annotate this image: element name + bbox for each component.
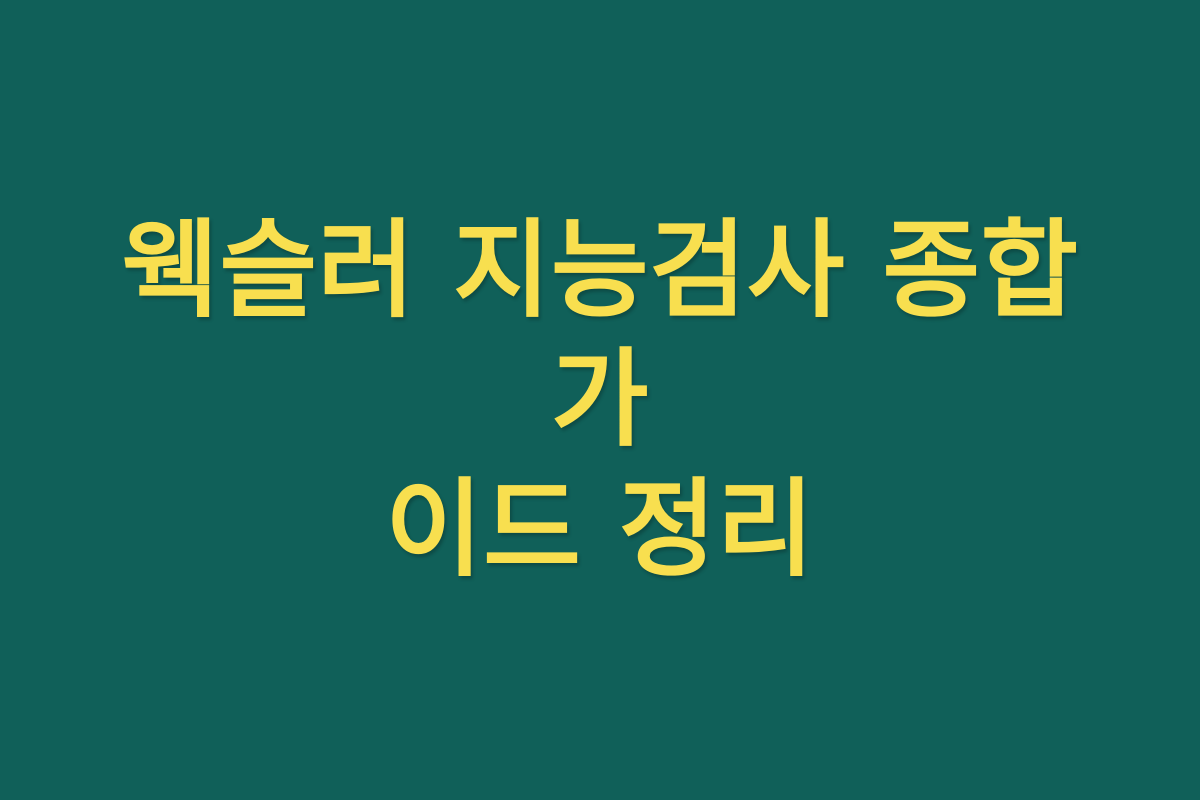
page-title-line-1: 웩슬러 지능검사 종합 가 bbox=[60, 206, 1140, 465]
page-title-line-2: 이드 정리 bbox=[60, 465, 1140, 594]
title-card: 웩슬러 지능검사 종합 가 이드 정리 bbox=[0, 0, 1200, 800]
page-title: 웩슬러 지능검사 종합 가 이드 정리 bbox=[0, 206, 1200, 594]
